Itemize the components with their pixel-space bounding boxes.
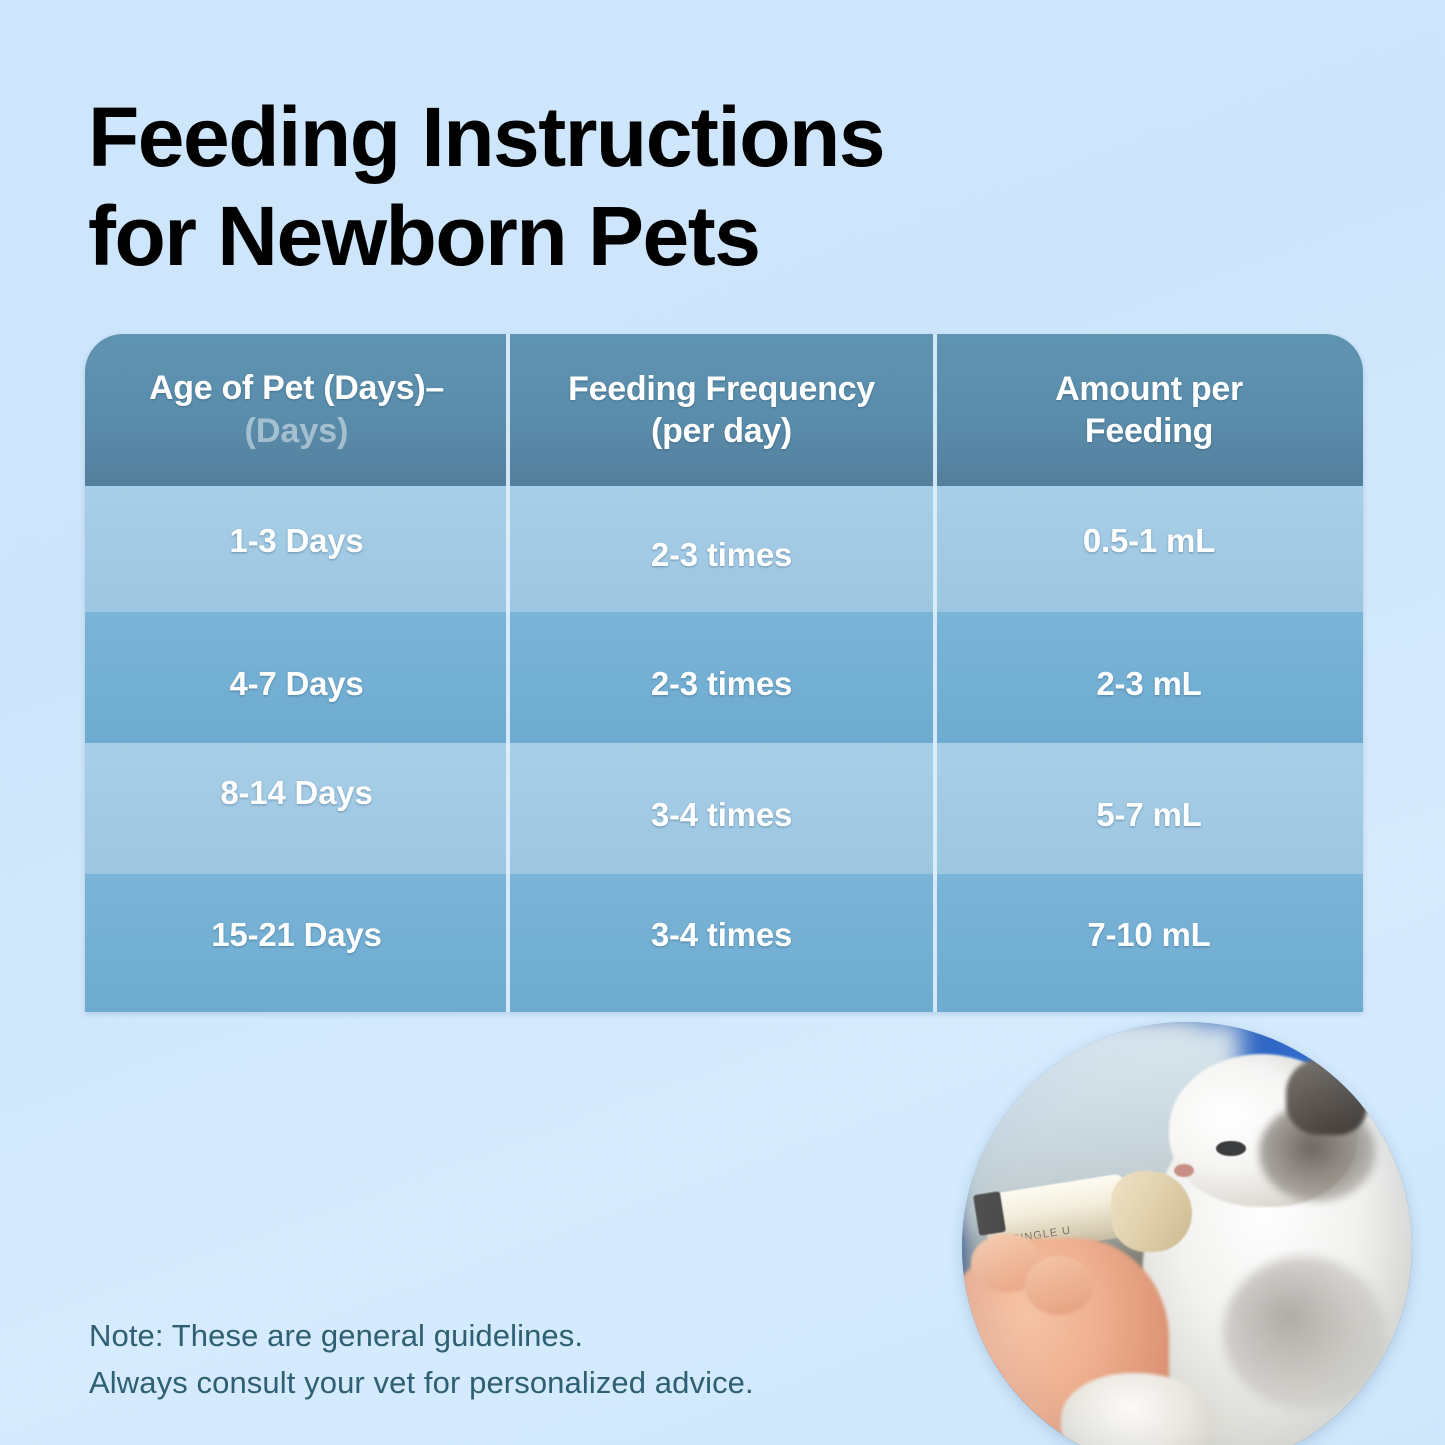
cell-age-text: 1-3 Days	[107, 522, 486, 560]
cell-age: 1-3 Days	[85, 486, 508, 612]
cell-amount: 2-3 mL	[935, 612, 1363, 743]
column-header-frequency: Feeding Frequency (per day)	[508, 334, 935, 486]
cell-frequency-text: 2-3 times	[530, 665, 913, 703]
cell-amount-text: 7-10 mL	[957, 916, 1341, 954]
cell-frequency: 3-4 times	[508, 874, 935, 1012]
column-header-frequency-line2: (per day)	[651, 410, 792, 452]
feeding-instructions-table: Age of Pet (Days)– (Days) Feeding Freque…	[85, 334, 1363, 1012]
note-block: Note: These are general guidelines. Alwa…	[89, 1312, 989, 1406]
cell-frequency: 2-3 times	[508, 612, 935, 743]
cell-age-text: 15-21 Days	[107, 916, 486, 954]
cell-frequency: 3-4 times	[508, 743, 935, 874]
title-line-2: for Newborn Pets	[88, 187, 1188, 286]
column-header-amount-line1: Amount per	[1055, 368, 1243, 410]
cell-age: 8-14 Days	[85, 743, 508, 874]
cell-amount-text: 0.5-1 mL	[957, 522, 1341, 560]
column-header-age: Age of Pet (Days)– (Days)	[85, 334, 508, 486]
kitten-bottle-feeding-photo: SINGLE U	[962, 1022, 1412, 1445]
column-header-age-sub: (Days)	[245, 409, 349, 453]
cell-amount-text: 5-7 mL	[957, 796, 1341, 834]
cell-amount: 5-7 mL	[935, 743, 1363, 874]
cell-age-text: 4-7 Days	[107, 665, 486, 703]
cell-amount: 7-10 mL	[935, 874, 1363, 1012]
table-row: 15-21 Days 3-4 times 7-10 mL	[85, 874, 1363, 1012]
page-title: Feeding Instructions for Newborn Pets	[88, 88, 1188, 286]
cell-amount-text: 2-3 mL	[957, 665, 1341, 703]
cell-age: 4-7 Days	[85, 612, 508, 743]
column-header-age-main: Age of Pet (Days)–	[149, 367, 444, 409]
cell-age: 15-21 Days	[85, 874, 508, 1012]
cell-frequency-text: 3-4 times	[530, 916, 913, 954]
cell-frequency-text: 2-3 times	[530, 536, 913, 574]
cell-frequency: 2-3 times	[508, 486, 935, 612]
title-line-1: Feeding Instructions	[88, 88, 1188, 187]
column-header-amount-line2: Feeding	[1085, 410, 1213, 452]
table-row: 4-7 Days 2-3 times 2-3 mL	[85, 612, 1363, 743]
cell-frequency-text: 3-4 times	[530, 796, 913, 834]
cell-amount: 0.5-1 mL	[935, 486, 1363, 612]
photo-vignette	[962, 1022, 1412, 1445]
table-row: 1-3 Days 2-3 times 0.5-1 mL	[85, 486, 1363, 612]
cell-age-text: 8-14 Days	[107, 774, 486, 812]
column-header-frequency-line1: Feeding Frequency	[568, 368, 875, 410]
column-header-amount: Amount per Feeding	[935, 334, 1363, 486]
note-line-1: Note: These are general guidelines.	[89, 1312, 989, 1359]
note-line-2: Always consult your vet for personalized…	[89, 1359, 989, 1406]
table-row: 8-14 Days 3-4 times 5-7 mL	[85, 743, 1363, 874]
table-header-row: Age of Pet (Days)– (Days) Feeding Freque…	[85, 334, 1363, 486]
